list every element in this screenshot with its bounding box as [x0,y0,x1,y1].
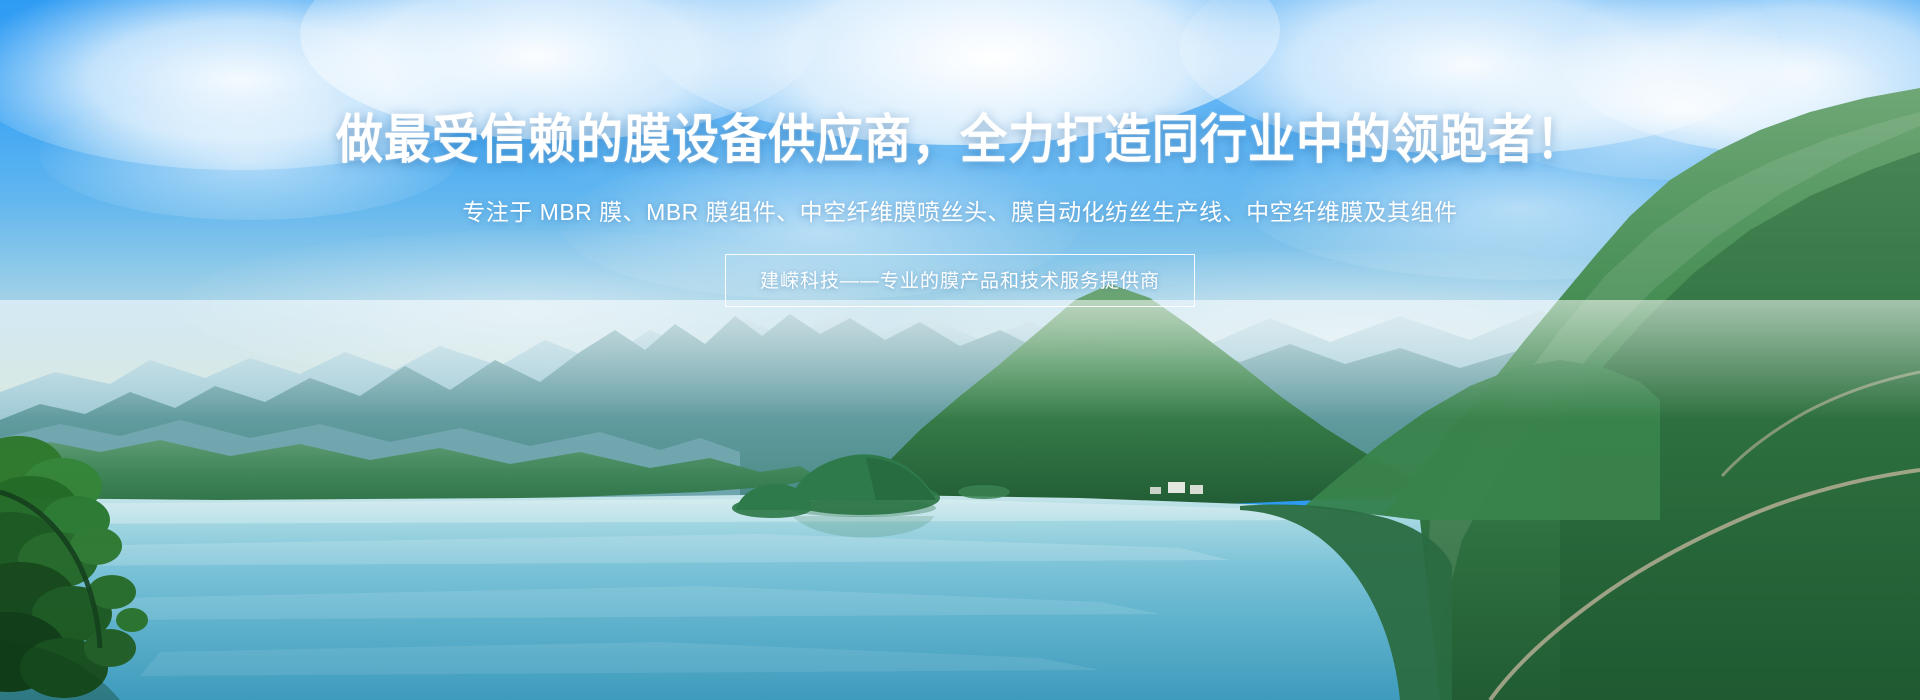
landscape-illustration [0,0,1920,700]
hero-banner: 做最受信赖的膜设备供应商，全力打造同行业中的领跑者！ 专注于 MBR 膜、MBR… [0,0,1920,700]
island-tiny [958,485,1010,499]
